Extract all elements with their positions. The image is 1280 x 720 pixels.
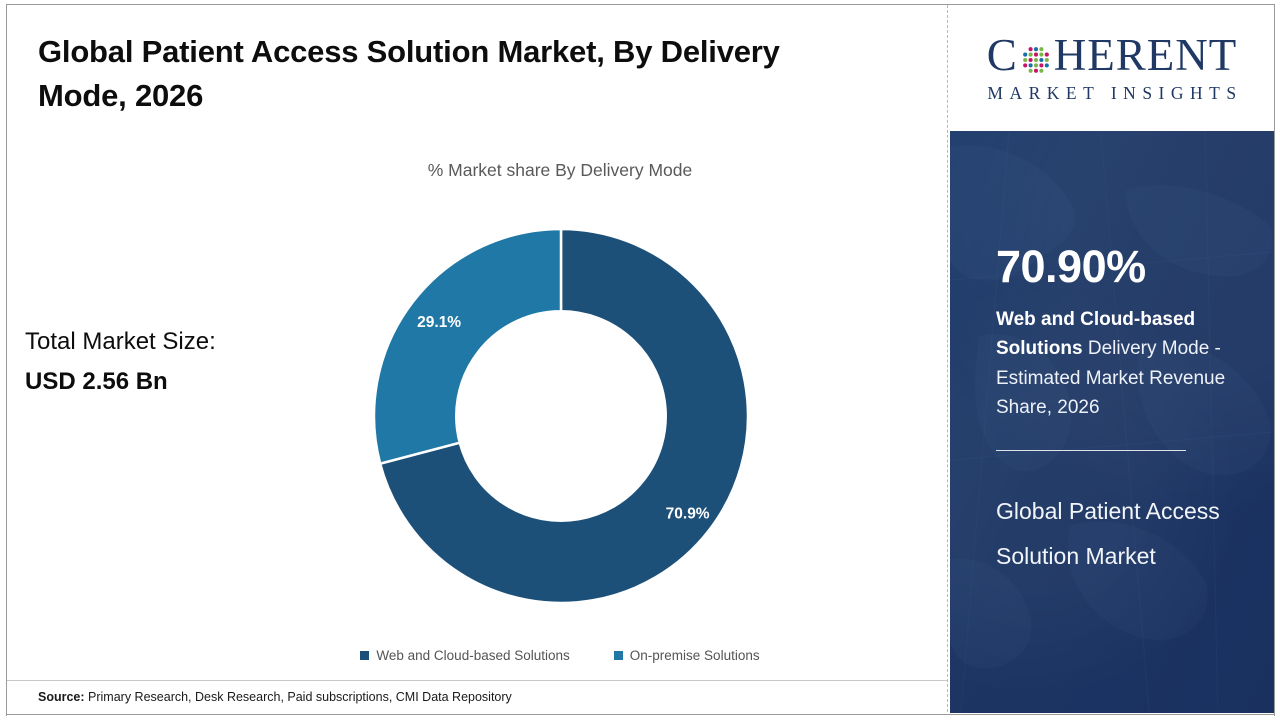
legend-label: Web and Cloud-based Solutions <box>376 648 569 663</box>
chart-legend: Web and Cloud-based SolutionsOn-premise … <box>240 648 880 663</box>
stat-value: 70.90% <box>996 244 1146 289</box>
logo-wordmark: C HERENT <box>987 33 1238 78</box>
infographic-canvas: Global Patient Access Solution Market, B… <box>0 0 1280 720</box>
donut-chart-svg: 70.9% 29.1% <box>374 229 748 603</box>
frame-border-left <box>6 4 7 716</box>
stat-description: Web and Cloud-based Solutions Delivery M… <box>996 305 1248 423</box>
total-market-size-label: Total Market Size: <box>25 328 216 355</box>
highlight-panel: 70.90% Web and Cloud-based Solutions Del… <box>950 131 1274 713</box>
total-market-size-value: USD 2.56 Bn <box>25 362 345 402</box>
panel-market-name: Global Patient Access Solution Market <box>996 489 1246 579</box>
slice-label-on-premise: 29.1% <box>417 314 461 331</box>
legend-label: On-premise Solutions <box>630 648 760 663</box>
dotted-globe-icon <box>1019 40 1053 74</box>
legend-swatch-icon <box>614 651 623 660</box>
frame-border-bottom <box>6 714 1274 715</box>
legend-item[interactable]: Web and Cloud-based Solutions <box>360 648 569 663</box>
logo-letter-c: C <box>987 33 1018 78</box>
donut-slice <box>374 229 561 464</box>
panel-divider <box>996 450 1186 451</box>
total-market-size: Total Market Size: USD 2.56 Bn <box>25 322 345 401</box>
logo-tagline: MARKET INSIGHTS <box>981 83 1242 104</box>
source-divider <box>7 680 947 681</box>
vertical-dashed-divider <box>947 5 948 712</box>
source-label: Source: <box>38 690 85 704</box>
source-note: Source: Primary Research, Desk Research,… <box>38 690 512 704</box>
chart-subtitle: % Market share By Delivery Mode <box>240 160 880 181</box>
donut-chart: 70.9% 29.1% <box>374 229 748 603</box>
frame-border-right <box>1274 4 1275 716</box>
source-text: Primary Research, Desk Research, Paid su… <box>88 690 512 704</box>
legend-item[interactable]: On-premise Solutions <box>614 648 760 663</box>
logo-letters-herent: HERENT <box>1054 33 1237 78</box>
page-title: Global Patient Access Solution Market, B… <box>38 30 838 118</box>
slice-label-web-cloud: 70.9% <box>666 506 710 523</box>
brand-logo: C HERENT MARKET INSIGHTS <box>950 5 1274 131</box>
legend-swatch-icon <box>360 651 369 660</box>
